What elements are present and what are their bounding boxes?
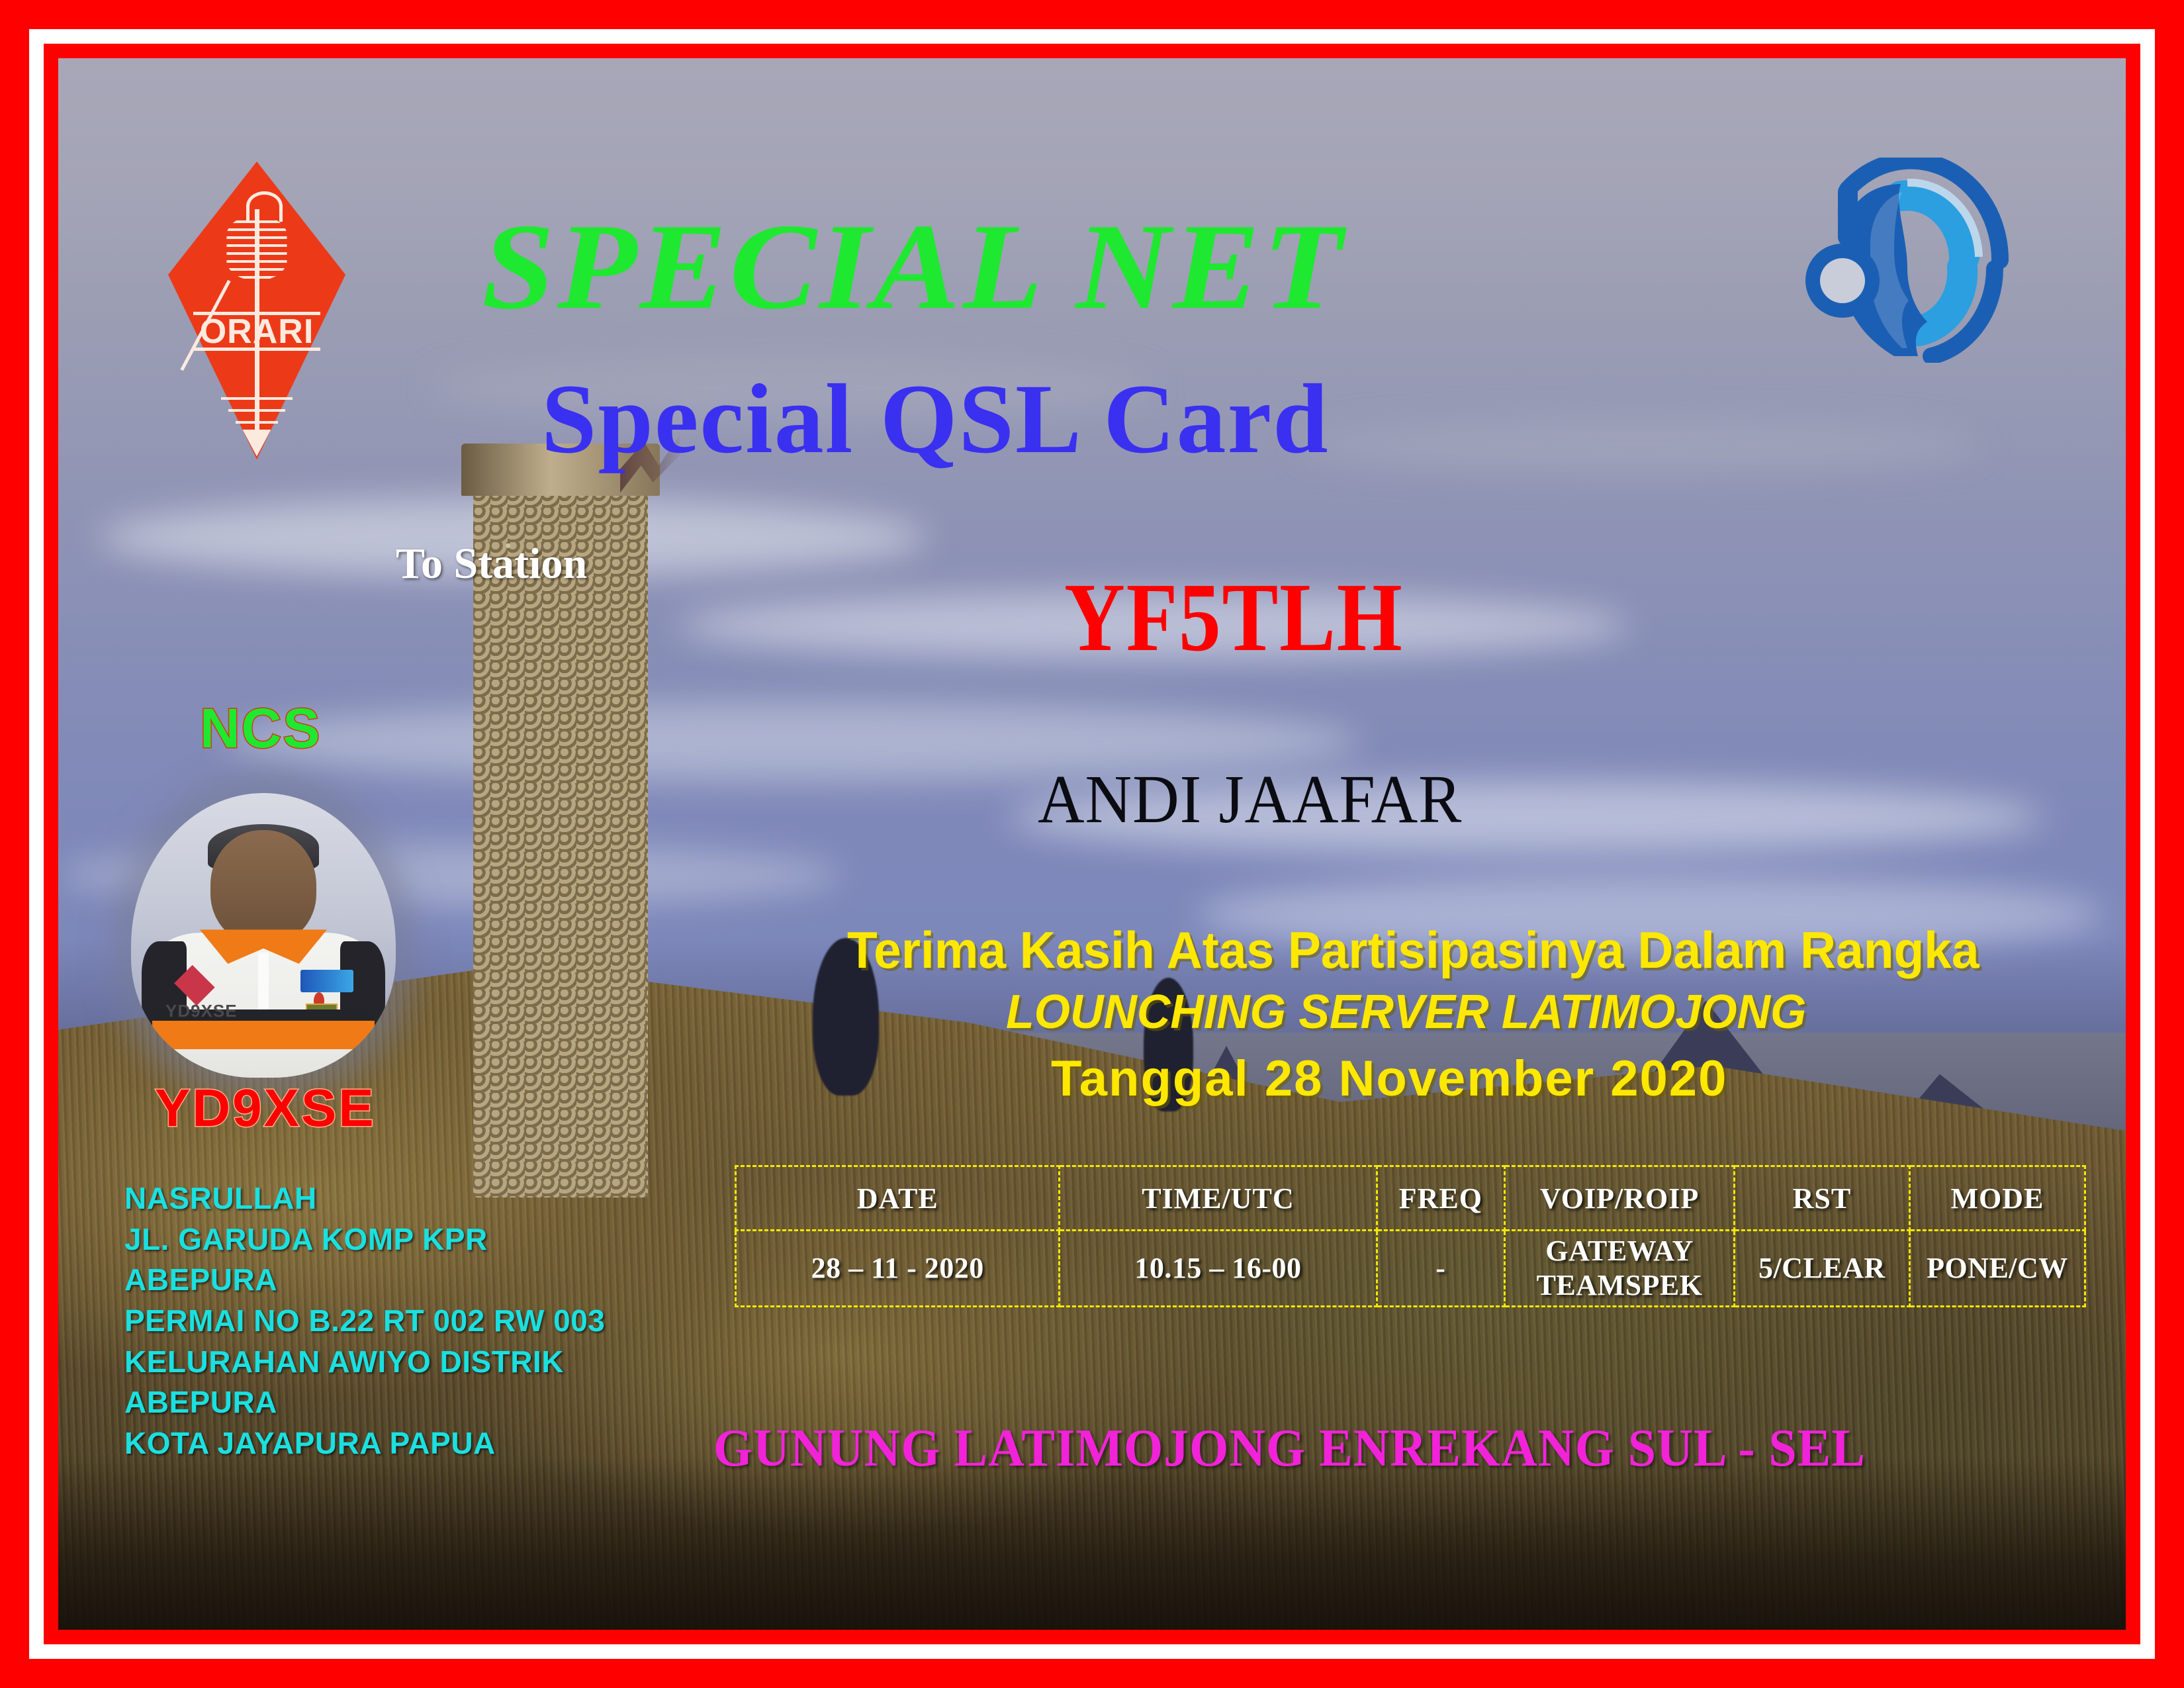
antenna-coil-icon	[226, 215, 287, 281]
station-callsign: YF5TLH	[1064, 561, 1403, 674]
column-header-date: DATE	[736, 1166, 1060, 1231]
address-line: JL. GARUDA KOMP KPR	[124, 1219, 605, 1260]
uniform-callsign-text: YD9XSE	[165, 1001, 238, 1021]
to-station-label: To Station	[396, 539, 587, 589]
thanks-line-2: LOUNCHING SERVER LATIMOJONG	[1006, 985, 1806, 1039]
cell-freq: -	[1377, 1231, 1505, 1307]
column-header-rst: RST	[1734, 1166, 1909, 1231]
ground-symbol-bar	[228, 409, 285, 412]
orari-wordmark: ORARI	[168, 315, 345, 348]
uniform-org-logo-icon	[300, 970, 353, 992]
qsl-card: ORARI	[0, 0, 2184, 1688]
portrait-belt	[152, 1021, 375, 1049]
ncs-label: NCS	[200, 696, 321, 761]
address-line: ABEPURA	[124, 1382, 605, 1423]
address-line: KELURAHAN AWIYO DISTRIK	[124, 1342, 605, 1383]
operator-name: ANDI JAAFAR	[1038, 760, 1462, 839]
cell-mode: PONE/CW	[1909, 1231, 2085, 1307]
ground-symbol-bar	[221, 397, 292, 400]
cell-date: 28 – 11 - 2020	[736, 1231, 1060, 1307]
portrait-head	[210, 830, 316, 944]
orari-bottom-triangle	[243, 430, 271, 457]
location-line: GUNUNG LATIMOJONG ENREKANG SUL - SEL	[713, 1419, 1866, 1479]
address-line: NASRULLAH	[124, 1178, 605, 1219]
headset-profile-logo	[1801, 158, 2020, 363]
thanks-line-1: Terima Kasih Atas Partisipasinya Dalam R…	[847, 920, 1979, 980]
cell-time: 10.15 – 16-00	[1060, 1231, 1377, 1307]
orari-rule-bottom	[193, 348, 321, 351]
table-header-row: DATE TIME/UTC FREQ VOIP/ROIP RST MODE	[736, 1166, 2085, 1231]
table-row: 28 – 11 - 2020 10.15 – 16-00 - GATEWAY T…	[736, 1231, 2085, 1307]
column-header-mode: MODE	[1909, 1166, 2085, 1231]
column-header-time: TIME/UTC	[1060, 1166, 1377, 1231]
column-header-freq: FREQ	[1377, 1166, 1505, 1231]
page-title: SPECIAL NET	[482, 205, 1345, 328]
ncs-callsign: YD9XSE	[155, 1078, 376, 1139]
ncs-operator-photo: YD9XSE	[131, 793, 396, 1078]
cell-rst: 5/CLEAR	[1734, 1231, 1909, 1307]
ground-symbol-bar	[236, 421, 278, 424]
address-line: PERMAI NO B.22 RT 002 RW 003	[124, 1301, 605, 1342]
slogan-text: "AMATIR RADIO ADALAH PROGRESIVE"	[138, 1627, 1091, 1630]
subtitle: Special QSL Card	[541, 369, 1330, 469]
cell-voip: GATEWAY TEAMSPEK	[1505, 1231, 1735, 1307]
address-line: ABEPURA	[124, 1260, 605, 1301]
qso-log-table: DATE TIME/UTC FREQ VOIP/ROIP RST MODE 28…	[735, 1165, 2086, 1307]
cell-voip-line2: TEAMSPEK	[1506, 1268, 1733, 1303]
card-photo-background: ORARI	[58, 58, 2126, 1630]
web-address: Address : amatir.latimojong.com	[1328, 1627, 1979, 1630]
orari-logo: ORARI	[168, 162, 345, 459]
column-header-voip: VOIP/ROIP	[1505, 1166, 1735, 1231]
foreground-shadow	[58, 1457, 2126, 1630]
cell-voip-line1: GATEWAY	[1506, 1234, 1733, 1268]
thanks-line-3: Tanggal 28 November 2020	[1051, 1050, 1727, 1107]
cloud-band	[1298, 420, 1981, 473]
address-line: KOTA JAYAPURA PAPUA	[124, 1423, 605, 1464]
mailing-address: NASRULLAH JL. GARUDA KOMP KPR ABEPURA PE…	[124, 1178, 605, 1464]
